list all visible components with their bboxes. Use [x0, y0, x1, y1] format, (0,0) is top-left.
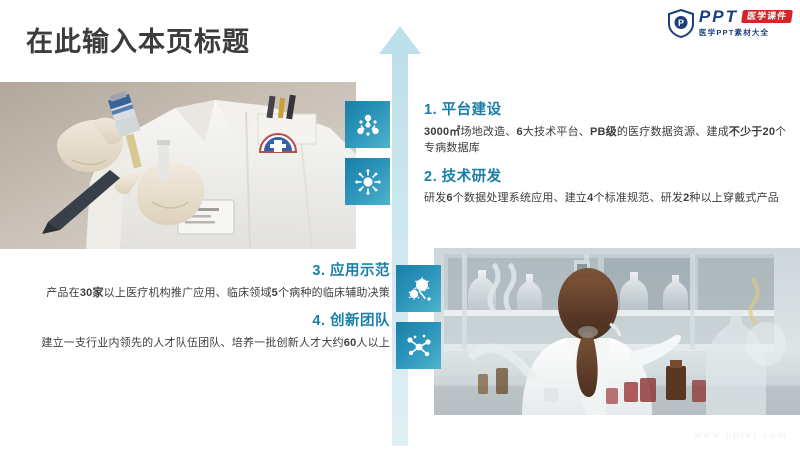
brand-badge: 医学课件	[741, 10, 793, 23]
brand-logo: P PPT 医学课件 医学PPT素材大全	[668, 8, 792, 38]
brand-tagline: 医学PPT素材大全	[699, 27, 792, 38]
brand-name: PPT	[699, 8, 738, 25]
shield-logo-icon: P	[668, 9, 694, 38]
section-block-4: 4. 创新团队 建立一支行业内领先的人才队伍团队、培养一批创新人才大约60人以上	[20, 312, 390, 351]
section-heading-1: 1. 平台建设	[424, 101, 794, 121]
section-block-3: 3. 应用示范 产品在30家以上医疗机构推广应用、临床领域5个病种的临床辅助决策	[20, 262, 390, 301]
icon-box-1[interactable]	[345, 101, 390, 148]
cell-virus-icon	[406, 276, 432, 302]
section-block-2: 2. 技术研发 研发6个数据处理系统应用、建立4个标准规范、研发2种以上穿戴式产…	[424, 168, 794, 207]
photo-lab-hands	[0, 82, 356, 249]
sections-left: 3. 应用示范 产品在30家以上医疗机构推广应用、临床领域5个病种的临床辅助决策…	[20, 262, 390, 351]
icon-box-2[interactable]	[345, 158, 390, 205]
icon-box-3[interactable]	[396, 265, 441, 312]
svg-text:P: P	[678, 18, 684, 28]
section-heading-4: 4. 创新团队	[20, 312, 390, 332]
section-body-2: 研发6个数据处理系统应用、建立4个标准规范、研发2种以上穿戴式产品	[424, 190, 794, 207]
section-heading-2: 2. 技术研发	[424, 168, 794, 188]
page-title: 在此输入本页标题	[26, 20, 250, 59]
section-block-1: 1. 平台建设 3000㎡场地改造、6大技术平台、PB级的医疗数据资源、建成不少…	[424, 101, 794, 157]
molecule-icon	[355, 112, 381, 138]
sections-right: 1. 平台建设 3000㎡场地改造、6大技术平台、PB级的医疗数据资源、建成不少…	[424, 101, 794, 207]
up-arrow-graphic	[378, 26, 422, 446]
snowflake-icon	[355, 169, 381, 195]
site-watermark: www.ppter.com	[694, 430, 788, 440]
section-body-1: 3000㎡场地改造、6大技术平台、PB级的医疗数据资源、建成不少于20个专病数据…	[424, 124, 794, 157]
network-nodes-icon	[406, 333, 432, 359]
section-body-4: 建立一支行业内领先的人才队伍团队、培养一批创新人才大约60人以上	[20, 335, 390, 352]
photo-lab-researcher	[434, 248, 800, 415]
icon-box-4[interactable]	[396, 322, 441, 369]
section-body-3: 产品在30家以上医疗机构推广应用、临床领域5个病种的临床辅助决策	[20, 285, 390, 302]
brand-text: PPT 医学课件 医学PPT素材大全	[699, 8, 792, 38]
section-heading-3: 3. 应用示范	[20, 262, 390, 282]
